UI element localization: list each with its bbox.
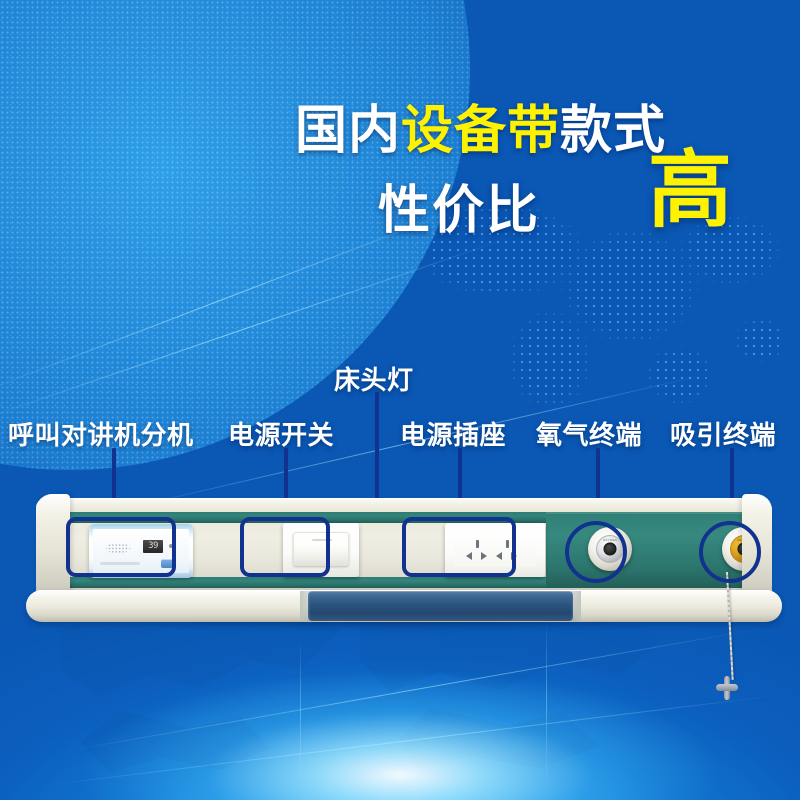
lower-rail-dark-segment <box>308 591 573 621</box>
highlight-box-intercom <box>66 517 176 577</box>
panel-end-cap-left <box>36 494 70 602</box>
pull-cord-handle[interactable] <box>716 676 738 700</box>
highlight-circle-oxygen <box>565 521 627 583</box>
highlight-box-power-switch <box>240 517 330 577</box>
highlight-circle-suction <box>699 521 761 583</box>
bed-head-unit: 39 <box>0 0 800 800</box>
highlight-box-power-socket <box>402 517 516 577</box>
